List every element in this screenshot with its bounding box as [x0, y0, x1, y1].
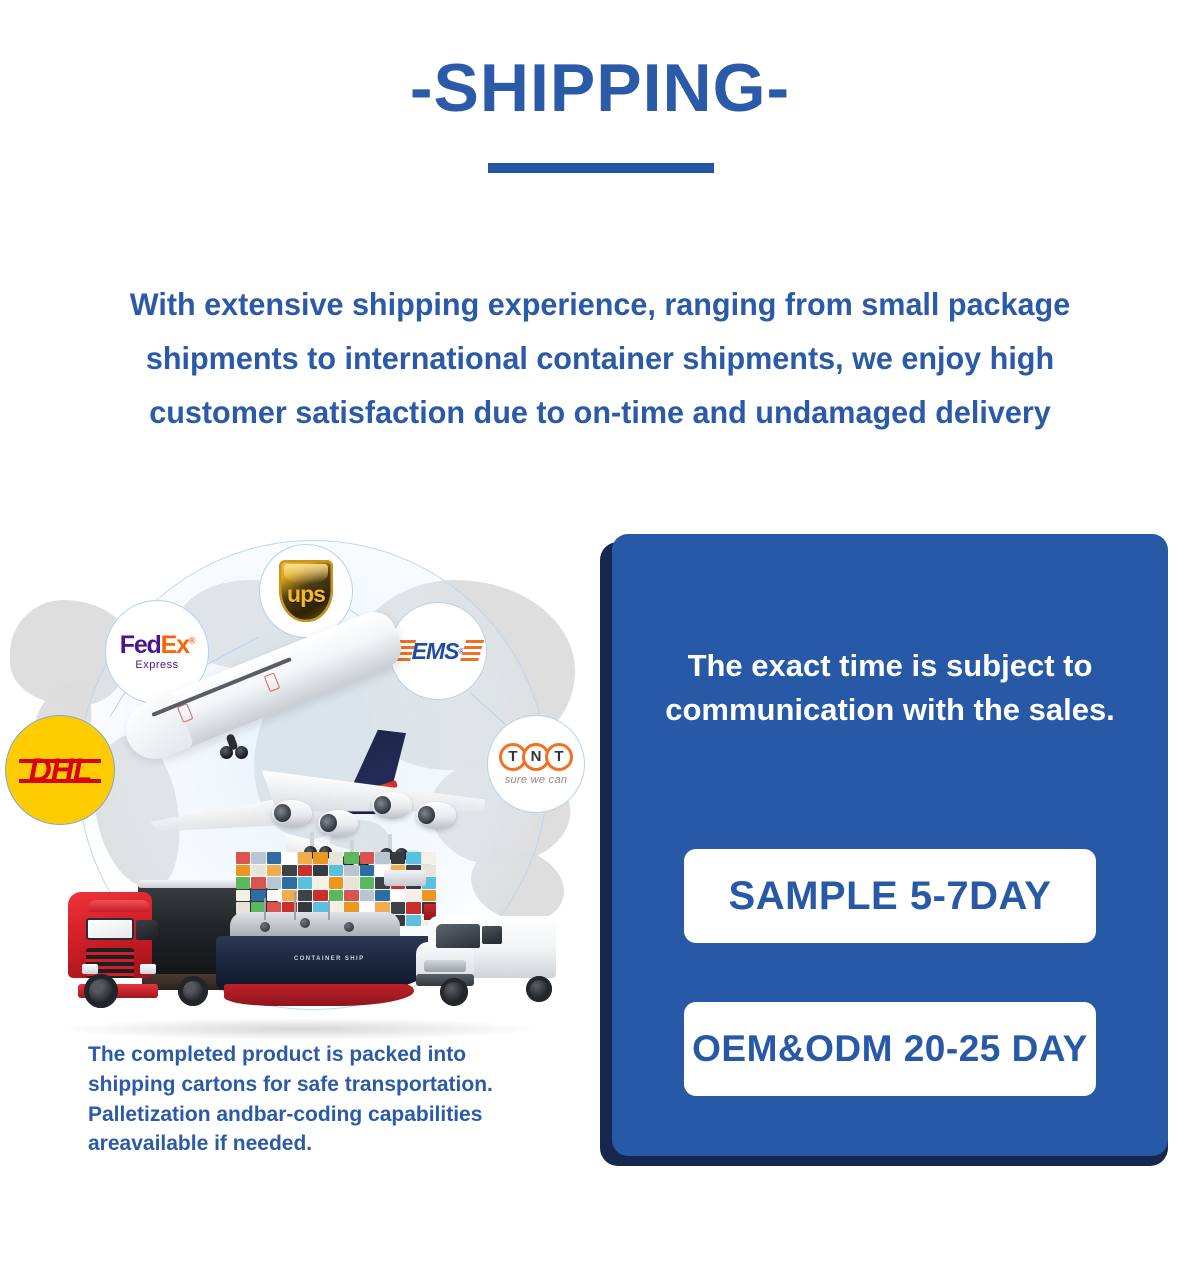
truck-wheel	[178, 976, 208, 1006]
ship-bridge	[384, 870, 426, 886]
ship-name-label: CONTAINER SHIP	[294, 956, 365, 962]
ship-crane	[300, 918, 310, 928]
shipping-container	[375, 852, 389, 864]
van-wheel	[440, 978, 468, 1006]
shipping-container	[267, 877, 281, 889]
shipping-container	[391, 902, 405, 914]
truck-windshield	[86, 918, 134, 940]
intro-line-1: With extensive shipping experience, rang…	[71, 277, 1128, 331]
oem-odm-lead-time-pill[interactable]: OEM&ODM 20-25 DAY	[684, 1002, 1096, 1096]
caption-line-2: shipping cartons for safe transportation…	[88, 1070, 588, 1100]
intro-line-2: shipments to international container shi…	[71, 331, 1128, 385]
truck-air-deflector	[88, 900, 150, 912]
shipping-container	[406, 890, 420, 902]
ups-label: ups	[287, 581, 325, 608]
shipping-container	[251, 852, 265, 864]
plane-wheels	[220, 746, 248, 759]
shipping-container	[298, 865, 312, 877]
shipping-container	[236, 865, 250, 877]
truck-wheel	[84, 974, 118, 1008]
tnt-tagline: sure we can	[499, 774, 573, 786]
shipping-container	[236, 852, 250, 864]
shipping-container	[282, 865, 296, 877]
panel-heading-line-2: communication with the sales.	[648, 688, 1132, 732]
shipping-container	[329, 865, 343, 877]
shipping-container	[422, 852, 436, 864]
shipping-container	[267, 865, 281, 877]
panel-heading: The exact time is subject to communicati…	[648, 644, 1132, 732]
shipping-container	[298, 852, 312, 864]
van-windshield	[436, 924, 480, 948]
van-side-window	[482, 926, 502, 944]
truck-headlight	[82, 964, 98, 974]
shipping-container	[251, 865, 265, 877]
caption-line-4: areavailable if needed.	[88, 1129, 588, 1159]
delivery-van-icon	[412, 902, 562, 1020]
shipping-container	[391, 852, 405, 864]
shipping-infographic: -SHIPPING- With extensive shipping exper…	[0, 0, 1200, 1271]
ship-crane	[260, 922, 270, 932]
shipping-container	[344, 890, 358, 902]
plane-door	[264, 672, 281, 692]
shipping-container	[313, 877, 327, 889]
title-underline-rule	[488, 163, 714, 173]
caption-line-3: Palletization andbar-coding capabilities	[88, 1100, 588, 1130]
shipping-container	[236, 877, 250, 889]
shipping-container	[360, 865, 374, 877]
caption-line-1: The completed product is packed into	[88, 1040, 588, 1070]
shipping-container	[313, 865, 327, 877]
shipping-container	[360, 852, 374, 864]
shipping-container	[375, 890, 389, 902]
shipping-container	[391, 890, 405, 902]
plane-engine	[272, 800, 312, 827]
shipping-container	[313, 852, 327, 864]
ship-mast	[294, 892, 296, 920]
ship-hull-waterline	[224, 984, 414, 1006]
lead-time-panel: The exact time is subject to communicati…	[612, 534, 1168, 1156]
page-title: -SHIPPING-	[0, 54, 1200, 122]
ship-mast	[328, 900, 330, 920]
shipping-container	[344, 865, 358, 877]
packing-caption: The completed product is packed into shi…	[88, 1040, 588, 1159]
truck-side-window	[136, 920, 158, 940]
shipping-container	[360, 877, 374, 889]
intro-line-3: customer satisfaction due to on-time and…	[71, 385, 1128, 439]
plane-engine	[416, 802, 456, 829]
truck-headlight	[140, 964, 156, 974]
ups-shield-icon: ups	[279, 560, 333, 622]
cargo-airplane-icon	[110, 650, 480, 880]
courier-badge-dhl[interactable]: DHL	[5, 715, 115, 825]
plane-engine	[372, 792, 412, 819]
courier-badge-tnt[interactable]: T N T sure we can	[487, 715, 585, 813]
shipping-illustration: FedEx® Express ups EMS® T N	[0, 520, 600, 1060]
shipping-container	[422, 890, 436, 902]
shipping-container	[344, 877, 358, 889]
shipping-container	[329, 852, 343, 864]
shipping-container	[282, 852, 296, 864]
shipping-container	[298, 877, 312, 889]
shipping-container	[329, 877, 343, 889]
shipping-container	[267, 852, 281, 864]
truck-cab	[68, 892, 152, 978]
dhl-label: DHL	[29, 752, 92, 789]
fedex-registered-mark: ®	[189, 636, 194, 646]
van-wheel	[526, 976, 552, 1002]
shipping-container	[406, 852, 420, 864]
tnt-ring-3: T	[545, 743, 573, 771]
shipping-container	[267, 890, 281, 902]
sample-lead-time-pill[interactable]: SAMPLE 5-7DAY	[684, 849, 1096, 943]
shipping-container	[360, 890, 374, 902]
shipping-container	[282, 877, 296, 889]
shipping-container	[313, 890, 327, 902]
panel-heading-line-1: The exact time is subject to	[648, 644, 1132, 688]
ground-vehicles-group: CONTAINER SHIP	[30, 850, 570, 1050]
tnt-icon: T N T sure we can	[499, 743, 573, 786]
shipping-container	[251, 877, 265, 889]
shipping-container	[344, 852, 358, 864]
shipping-container	[329, 890, 343, 902]
shipping-container	[236, 890, 250, 902]
shipping-container	[298, 890, 312, 902]
intro-paragraph: With extensive shipping experience, rang…	[71, 277, 1128, 440]
plane-engine	[318, 810, 358, 837]
van-grille	[424, 960, 466, 972]
ship-mast	[264, 898, 266, 920]
ship-crane	[344, 922, 354, 932]
